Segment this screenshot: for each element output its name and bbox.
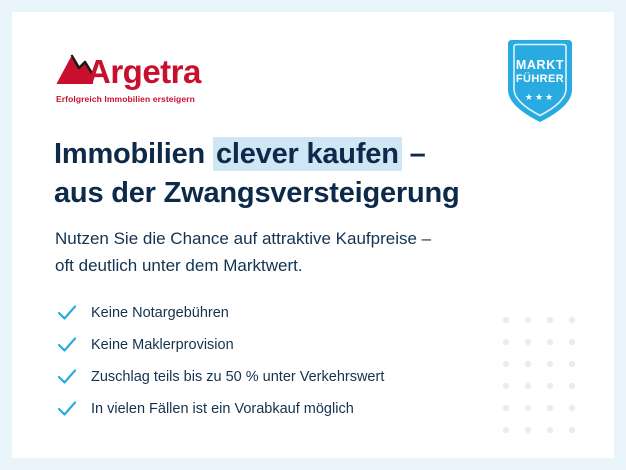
headline-line2: aus der Zwangsversteigerung (54, 175, 574, 211)
list-item-label: Keine Maklerprovision (91, 336, 234, 354)
list-item-label: In vielen Fällen ist ein Vorabkauf mögli… (91, 400, 354, 418)
subheadline-line2: oft deutlich unter dem Marktwert. (55, 252, 575, 279)
check-icon (56, 334, 78, 356)
check-icon (56, 366, 78, 388)
badge-line1: MARKT (498, 58, 582, 72)
subheadline: Nutzen Sie die Chance auf attraktive Kau… (55, 225, 575, 279)
headline-part2: – (402, 138, 426, 170)
list-item-label: Keine Notargebühren (91, 304, 229, 322)
headline-highlight: clever kaufen (213, 137, 402, 171)
frame-bottom-border (0, 458, 626, 470)
list-item: Keine Notargebühren (56, 297, 576, 329)
brand-logo[interactable]: Argetra Erfolgreich Immobilien ersteiger… (55, 47, 255, 117)
marktfuehrer-badge: MARKT FÜHRER ★★★ (498, 38, 582, 126)
benefits-list: Keine Notargebühren Keine Maklerprovisio… (56, 297, 576, 425)
subheadline-line1: Nutzen Sie die Chance auf attraktive Kau… (55, 225, 575, 252)
list-item: In vielen Fällen ist ein Vorabkauf mögli… (56, 393, 576, 425)
brand-tagline: Erfolgreich Immobilien ersteigern (56, 94, 195, 104)
list-item: Keine Maklerprovision (56, 329, 576, 361)
brand-name: Argetra (87, 55, 201, 88)
page-title: Immobilien clever kaufen – aus der Zwang… (54, 136, 574, 211)
check-icon (56, 398, 78, 420)
banner-content: Argetra Erfolgreich Immobilien ersteiger… (12, 12, 614, 458)
list-item-label: Zuschlag teils bis zu 50 % unter Verkehr… (91, 368, 384, 386)
badge-stars: ★★★ (498, 92, 582, 103)
list-item: Zuschlag teils bis zu 50 % unter Verkehr… (56, 361, 576, 393)
check-icon (56, 302, 78, 324)
frame-left-border (0, 0, 12, 470)
advertisement-banner: Argetra Erfolgreich Immobilien ersteiger… (0, 0, 626, 470)
badge-line2: FÜHRER (498, 72, 582, 86)
badge-text: MARKT FÜHRER (498, 58, 582, 86)
frame-right-border (614, 0, 626, 470)
headline-part1: Immobilien (54, 138, 213, 170)
frame-top-border (0, 0, 626, 12)
